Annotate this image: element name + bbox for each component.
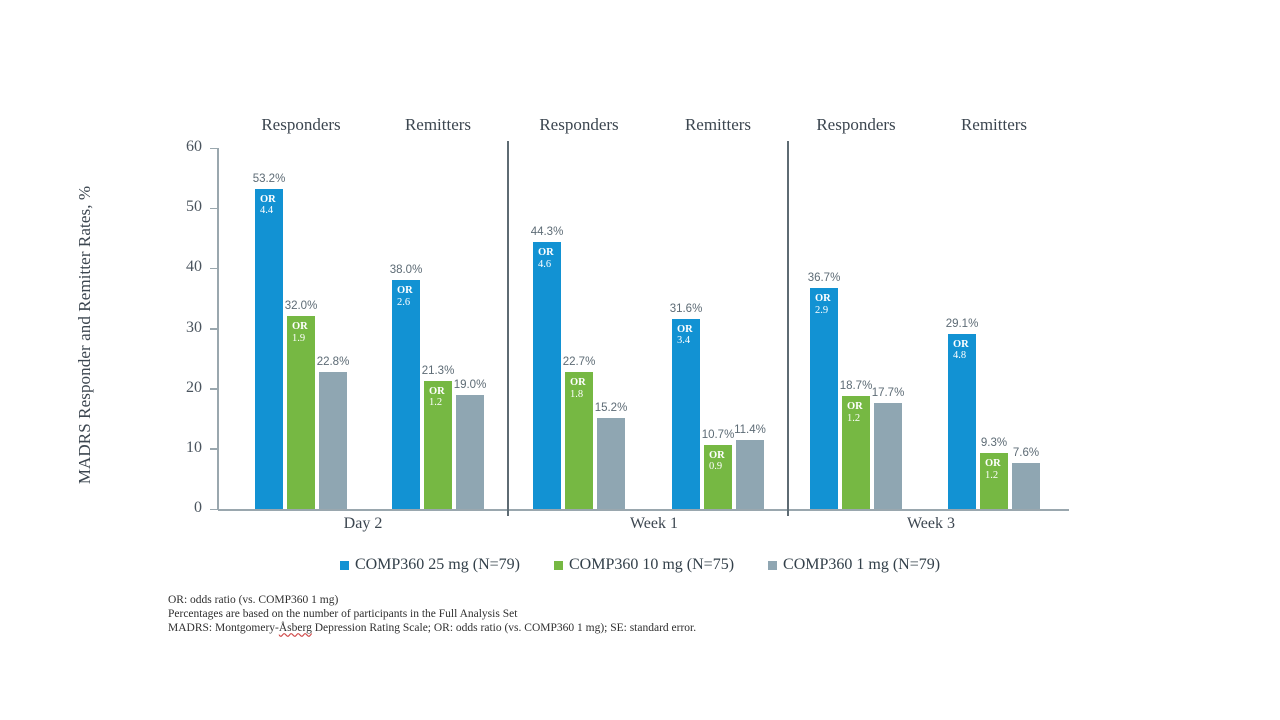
odds-ratio-value: 1.2 (847, 414, 863, 425)
legend-item[interactable]: COMP360 1 mg (N=79) (768, 556, 940, 574)
odds-ratio-prefix: OR (847, 402, 863, 413)
odds-ratio-value: 1.8 (570, 390, 586, 401)
legend-label: COMP360 1 mg (N=79) (783, 556, 940, 574)
bar-odds-ratio-label: OR1.8 (570, 378, 586, 400)
footnotes: OR: odds ratio (vs. COMP360 1 mg) Percen… (168, 593, 696, 636)
bar-value-label: 32.0% (285, 300, 318, 312)
bar-value-label: 10.7% (702, 429, 735, 441)
group-header-responders: Responders (816, 115, 895, 135)
footnote-line-3-pre: MADRS: Montgomery- (168, 622, 279, 634)
odds-ratio-prefix: OR (429, 387, 445, 398)
bar-odds-ratio-label: OR1.2 (429, 387, 445, 409)
y-axis-tick (210, 509, 218, 511)
y-axis-tick (210, 268, 218, 270)
y-axis-tick-label: 60 (152, 138, 202, 156)
y-axis-tick (210, 148, 218, 150)
legend-label: COMP360 25 mg (N=79) (355, 556, 520, 574)
bar-value-label: 11.4% (734, 424, 766, 436)
footnote-line-1: OR: odds ratio (vs. COMP360 1 mg) (168, 593, 696, 607)
footnote-line-3: MADRS: Montgomery-Åsberg Depression Rati… (168, 621, 696, 635)
odds-ratio-value: 1.2 (429, 398, 445, 409)
odds-ratio-value: 0.9 (709, 462, 725, 473)
odds-ratio-value: 4.4 (260, 206, 276, 217)
odds-ratio-value: 3.4 (677, 336, 693, 347)
bar-value-label: 17.7% (872, 387, 905, 399)
chart-figure: MADRS Responder and Remitter Rates, % 01… (0, 0, 1280, 720)
bar-value-label: 53.2% (253, 173, 286, 185)
bar-odds-ratio-label: OR4.4 (260, 195, 276, 217)
legend-swatch-icon (554, 561, 563, 570)
bar[interactable] (736, 440, 764, 509)
bar-value-label: 9.3% (981, 437, 1007, 449)
group-header-remitters: Remitters (961, 115, 1027, 135)
odds-ratio-prefix: OR (570, 378, 586, 389)
bar-value-label: 44.3% (531, 226, 564, 238)
bar-value-label: 22.8% (317, 356, 350, 368)
bar-odds-ratio-label: OR1.9 (292, 322, 308, 344)
odds-ratio-value: 2.6 (397, 298, 413, 309)
odds-ratio-prefix: OR (260, 195, 276, 206)
group-header-responders: Responders (539, 115, 618, 135)
bar[interactable] (255, 189, 283, 509)
bar[interactable] (597, 418, 625, 509)
x-axis-label: Week 1 (630, 515, 678, 533)
group-header-responders: Responders (261, 115, 340, 135)
legend-swatch-icon (768, 561, 777, 570)
bar-odds-ratio-label: OR1.2 (847, 402, 863, 424)
x-axis-label: Week 3 (907, 515, 955, 533)
odds-ratio-value: 4.6 (538, 260, 554, 271)
bar-value-label: 29.1% (946, 318, 979, 330)
footnote-misspelled-word: Åsberg (279, 622, 312, 634)
y-axis-tick (210, 208, 218, 210)
bar-value-label: 15.2% (595, 402, 628, 414)
bar[interactable] (874, 403, 902, 509)
odds-ratio-prefix: OR (538, 248, 554, 259)
bar-odds-ratio-label: OR1.2 (985, 459, 1001, 481)
odds-ratio-prefix: OR (953, 340, 969, 351)
legend-item[interactable]: COMP360 10 mg (N=75) (554, 556, 734, 574)
footnote-line-2: Percentages are based on the number of p… (168, 607, 696, 621)
legend-label: COMP360 10 mg (N=75) (569, 556, 734, 574)
bar-odds-ratio-label: OR2.6 (397, 286, 413, 308)
bar[interactable] (1012, 463, 1040, 509)
y-axis-tick-label: 30 (152, 319, 202, 337)
bar-odds-ratio-label: OR2.9 (815, 294, 831, 316)
bar-value-label: 36.7% (808, 272, 841, 284)
odds-ratio-prefix: OR (985, 459, 1001, 470)
bar-value-label: 31.6% (670, 303, 703, 315)
bar[interactable] (672, 319, 700, 509)
bar[interactable] (533, 242, 561, 509)
bar-odds-ratio-label: OR4.6 (538, 248, 554, 270)
y-axis-tick (210, 328, 218, 330)
section-divider (787, 141, 789, 516)
odds-ratio-prefix: OR (677, 325, 693, 336)
bar[interactable] (287, 316, 315, 509)
y-axis-tick-label: 50 (152, 198, 202, 216)
legend-item[interactable]: COMP360 25 mg (N=79) (340, 556, 520, 574)
bar-value-label: 7.6% (1013, 447, 1039, 459)
x-axis-line (218, 509, 1069, 511)
y-axis-tick-label: 0 (152, 499, 202, 517)
bar-value-label: 19.0% (454, 379, 487, 391)
odds-ratio-prefix: OR (709, 451, 725, 462)
y-axis-tick-label: 40 (152, 258, 202, 276)
odds-ratio-value: 4.8 (953, 351, 969, 362)
chart-legend: COMP360 25 mg (N=79)COMP360 10 mg (N=75)… (0, 556, 1280, 574)
odds-ratio-prefix: OR (815, 294, 831, 305)
bar[interactable] (392, 280, 420, 509)
bar-value-label: 21.3% (422, 365, 455, 377)
bar-odds-ratio-label: OR3.4 (677, 325, 693, 347)
bar[interactable] (810, 288, 838, 509)
legend-swatch-icon (340, 561, 349, 570)
footnote-line-3-post: Depression Rating Scale; OR: odds ratio … (312, 622, 696, 634)
group-header-remitters: Remitters (405, 115, 471, 135)
group-header-remitters: Remitters (685, 115, 751, 135)
bar-odds-ratio-label: OR4.8 (953, 340, 969, 362)
odds-ratio-value: 2.9 (815, 306, 831, 317)
odds-ratio-value: 1.2 (985, 471, 1001, 482)
y-axis-tick-label: 10 (152, 439, 202, 457)
y-axis-tick-label: 20 (152, 379, 202, 397)
y-axis-title: MADRS Responder and Remitter Rates, % (75, 155, 95, 515)
section-divider (507, 141, 509, 516)
bar-value-label: 38.0% (390, 264, 423, 276)
x-axis-label: Day 2 (344, 515, 383, 533)
bar-odds-ratio-label: OR0.9 (709, 451, 725, 473)
bar[interactable] (456, 395, 484, 509)
bar-value-label: 22.7% (563, 356, 596, 368)
odds-ratio-value: 1.9 (292, 334, 308, 345)
y-axis-tick (210, 448, 218, 450)
bar-value-label: 18.7% (840, 380, 873, 392)
bar[interactable] (319, 372, 347, 509)
odds-ratio-prefix: OR (397, 286, 413, 297)
odds-ratio-prefix: OR (292, 322, 308, 333)
y-axis-tick (210, 388, 218, 390)
